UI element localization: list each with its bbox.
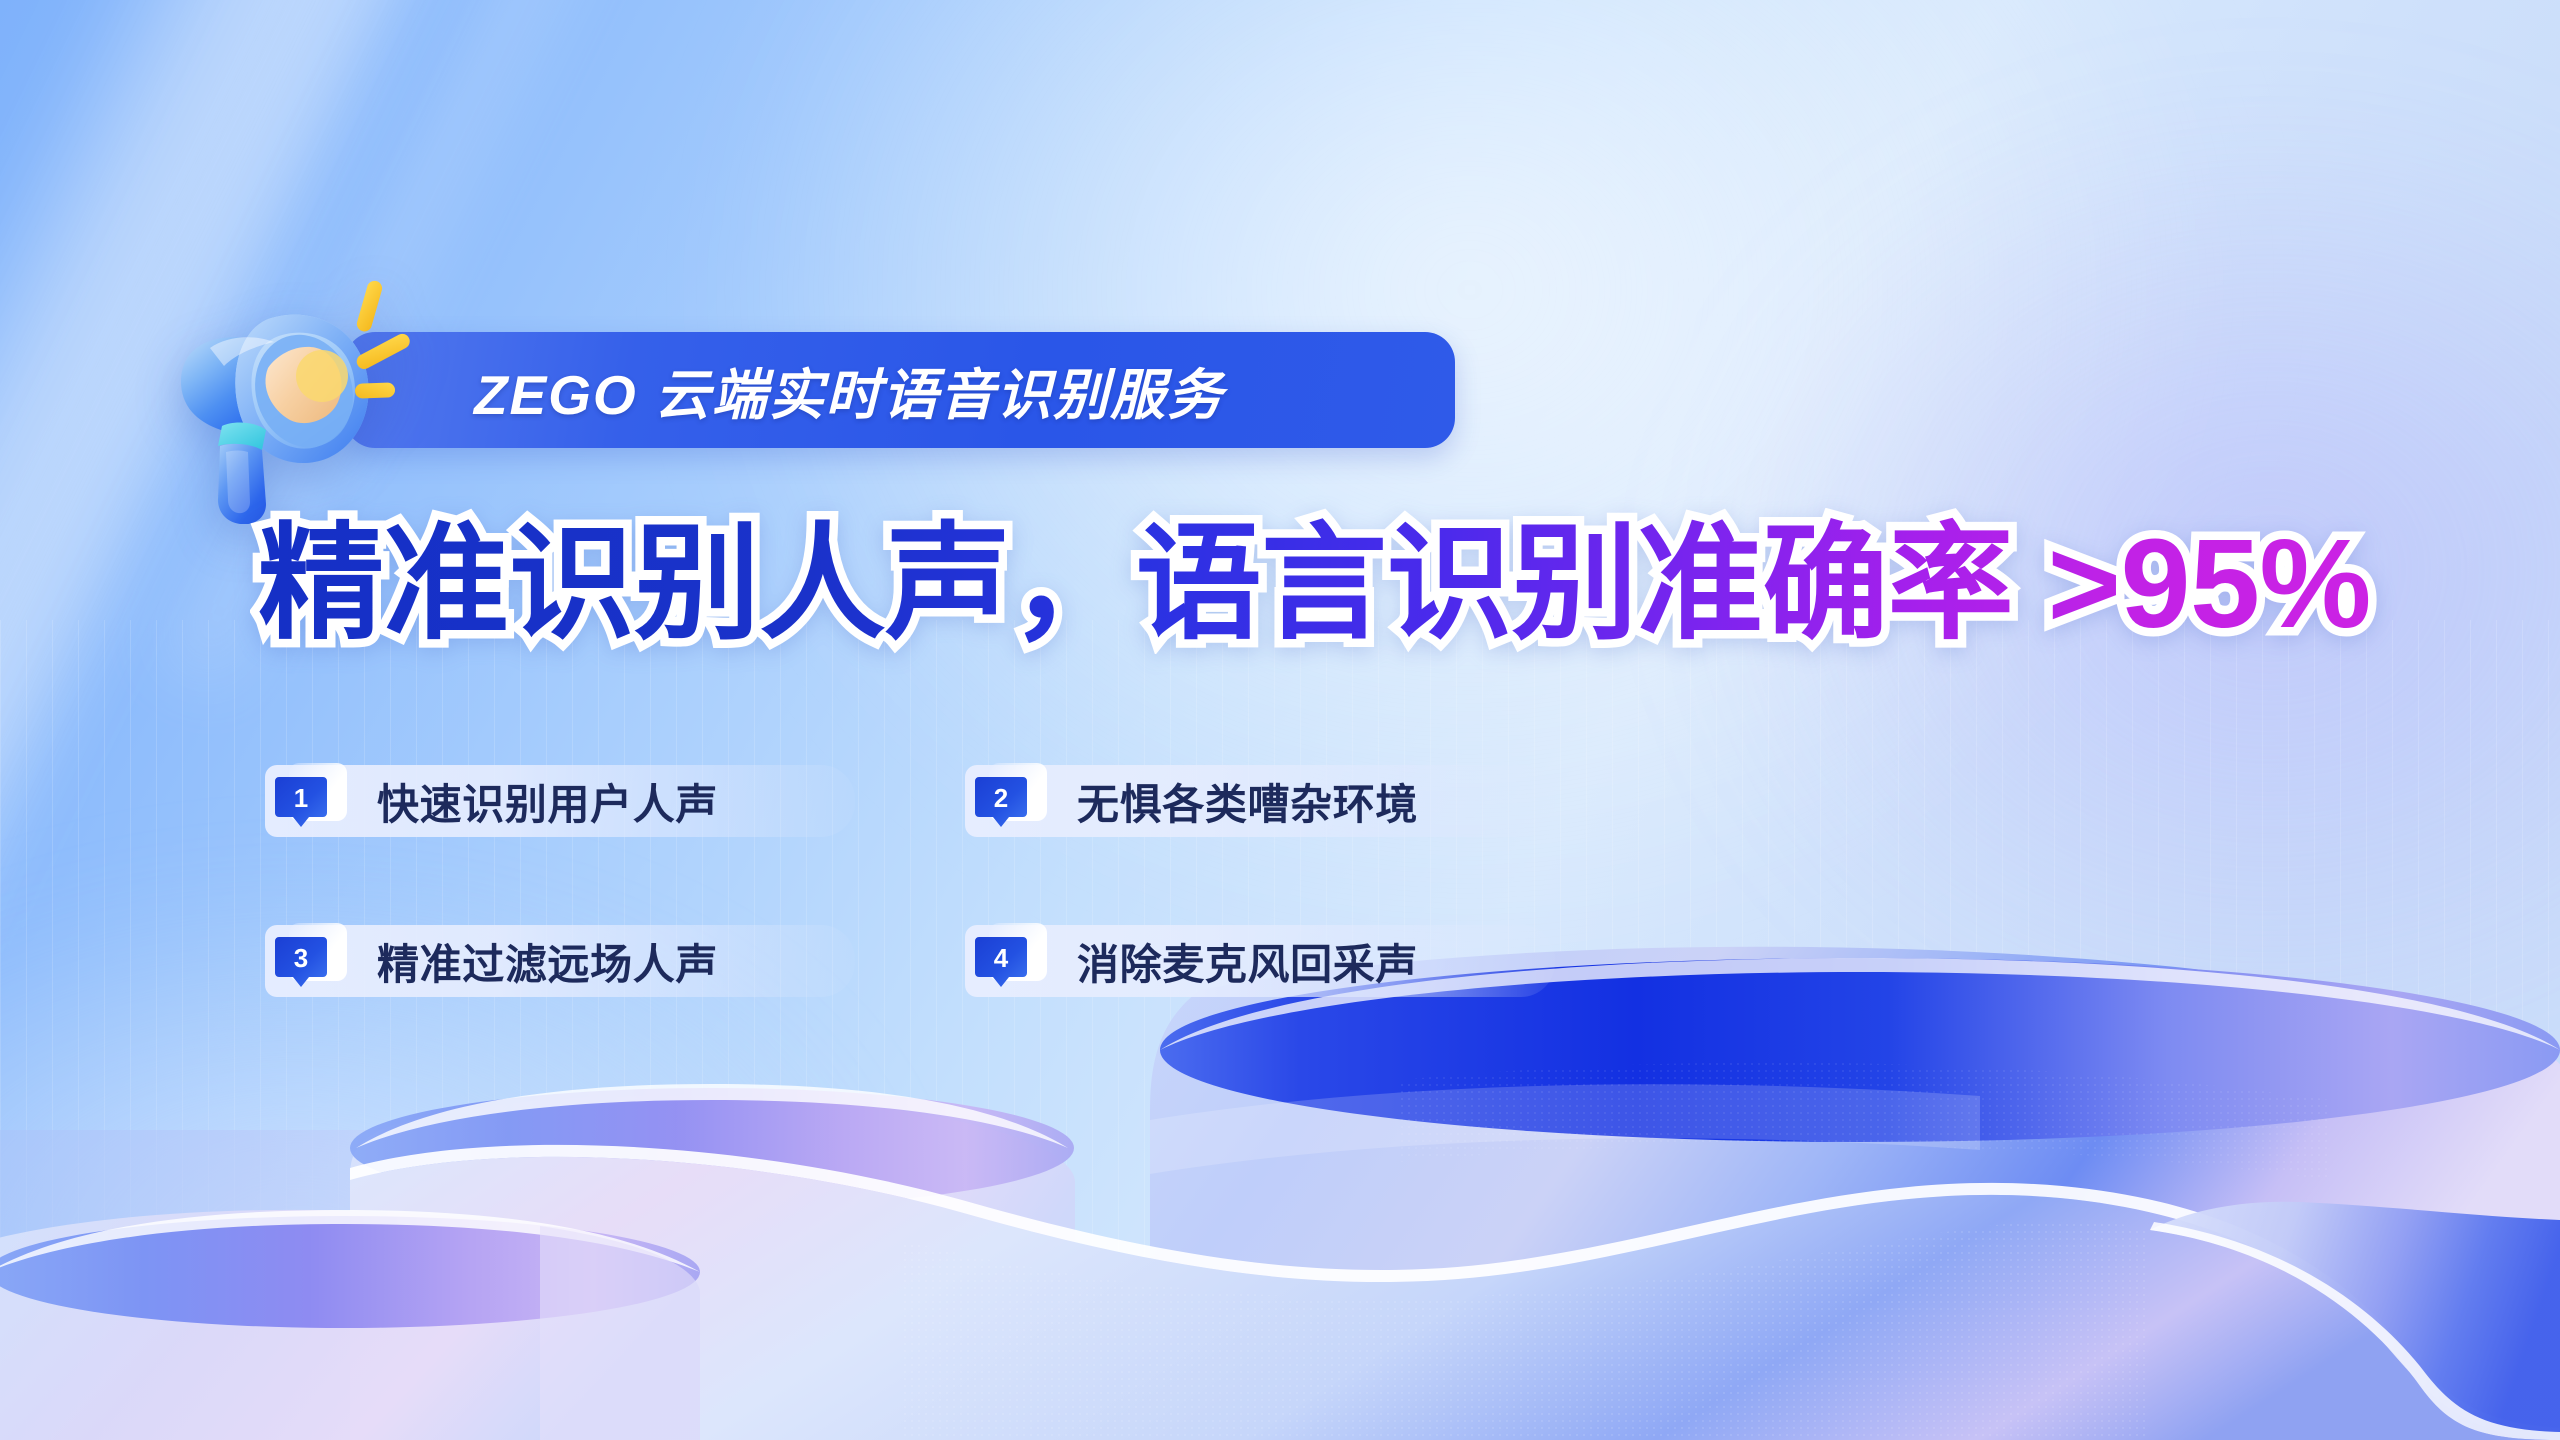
tag-label: 消除麦克风回采声 [1077,925,1418,997]
tag-number: 1 [273,773,329,823]
headline-gradient-layer: 精准识别人声，语言识别准确率 >95% [258,513,2371,654]
tag-number: 4 [973,933,1029,983]
tag-label: 快速识别用户人声 [377,765,718,837]
megaphone-icon [170,254,440,524]
pinstripe-texture [0,620,2560,1440]
promo-banner: ZEGO 云端实时语音识别服务 [0,0,2560,1440]
tag-number: 3 [273,933,329,983]
tag-number: 2 [973,773,1029,823]
page-title: 精准识别人声，语言识别准确率 >95% 精准识别人声，语言识别准确率 >95% [258,521,2371,647]
tag-label: 精准过滤远场人声 [377,925,718,997]
tag-label: 无惧各类嘈杂环境 [1077,765,1418,837]
